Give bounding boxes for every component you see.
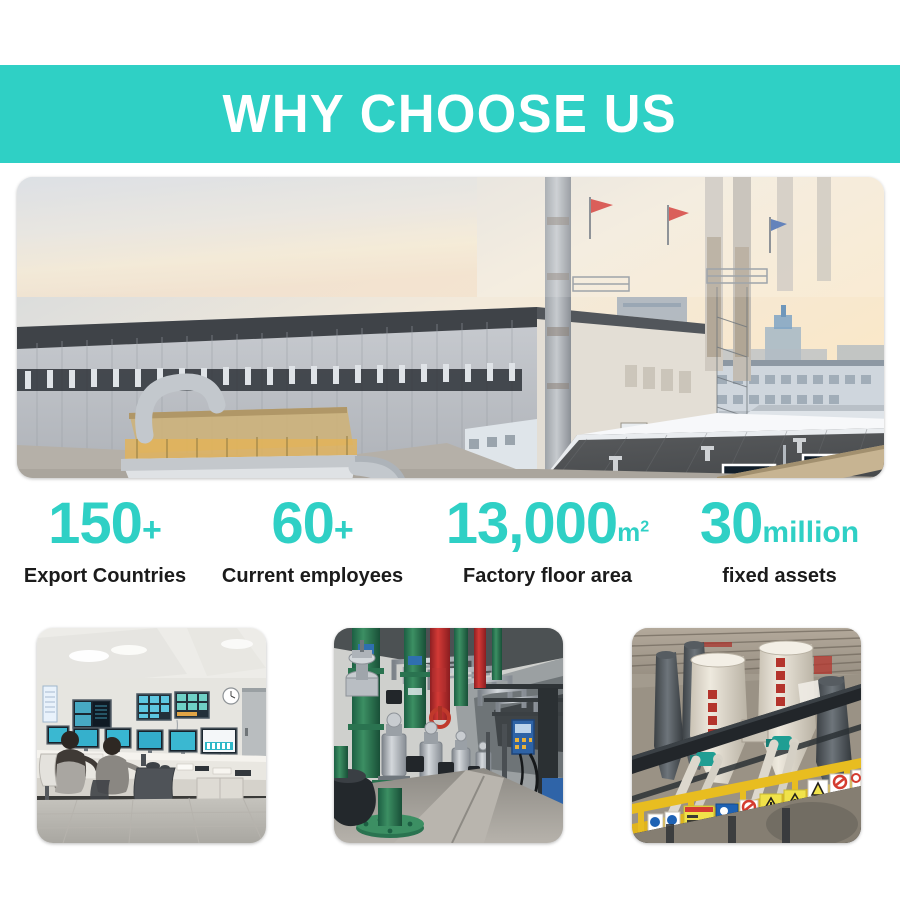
factory-overview-illustration: [17, 177, 884, 478]
pipeline-valves-illustration: [334, 628, 563, 843]
stat-value-current-employees: 60+: [205, 495, 420, 553]
stat-value-export-countries: 150+: [0, 495, 210, 553]
factory-overview-photo: [17, 177, 884, 478]
stat-label-current-employees: Current employees: [205, 565, 420, 588]
stat-unit-exponent: 2: [640, 517, 649, 535]
stat-suffix: +: [142, 511, 162, 549]
why-choose-us-banner: WHY CHOOSE US: [0, 65, 900, 163]
pipeline-valves-photo: [334, 628, 563, 843]
stat-current-employees: 60+ Current employees: [205, 495, 420, 588]
stat-value-fixed-assets: 30million: [672, 495, 887, 553]
stat-suffix: +: [334, 511, 354, 549]
stat-unit: m: [617, 517, 640, 547]
stat-fixed-assets: 30million fixed assets: [672, 495, 887, 588]
statistics-row: 150+ Export Countries 60+ Current employ…: [0, 495, 900, 605]
stat-suffix: m2: [617, 517, 649, 547]
stat-number: 30: [700, 491, 763, 556]
control-room-photo: [37, 628, 266, 843]
stat-suffix: million: [762, 516, 859, 549]
stat-factory-floor-area: 13,000m2 Factory floor area: [415, 495, 680, 588]
page-title: WHY CHOOSE US: [223, 87, 678, 141]
stat-number: 13,000: [446, 491, 617, 556]
silo-hoppers-illustration: [632, 628, 861, 843]
stat-value-factory-floor-area: 13,000m2: [415, 495, 680, 553]
stat-label-fixed-assets: fixed assets: [672, 565, 887, 588]
stat-label-export-countries: Export Countries: [0, 565, 210, 588]
control-room-illustration: [37, 628, 266, 843]
silo-hoppers-photo: [632, 628, 861, 843]
stat-export-countries: 150+ Export Countries: [0, 495, 210, 588]
stat-number: 150: [48, 491, 142, 556]
stat-label-factory-floor-area: Factory floor area: [415, 565, 680, 588]
stat-number: 60: [271, 491, 334, 556]
